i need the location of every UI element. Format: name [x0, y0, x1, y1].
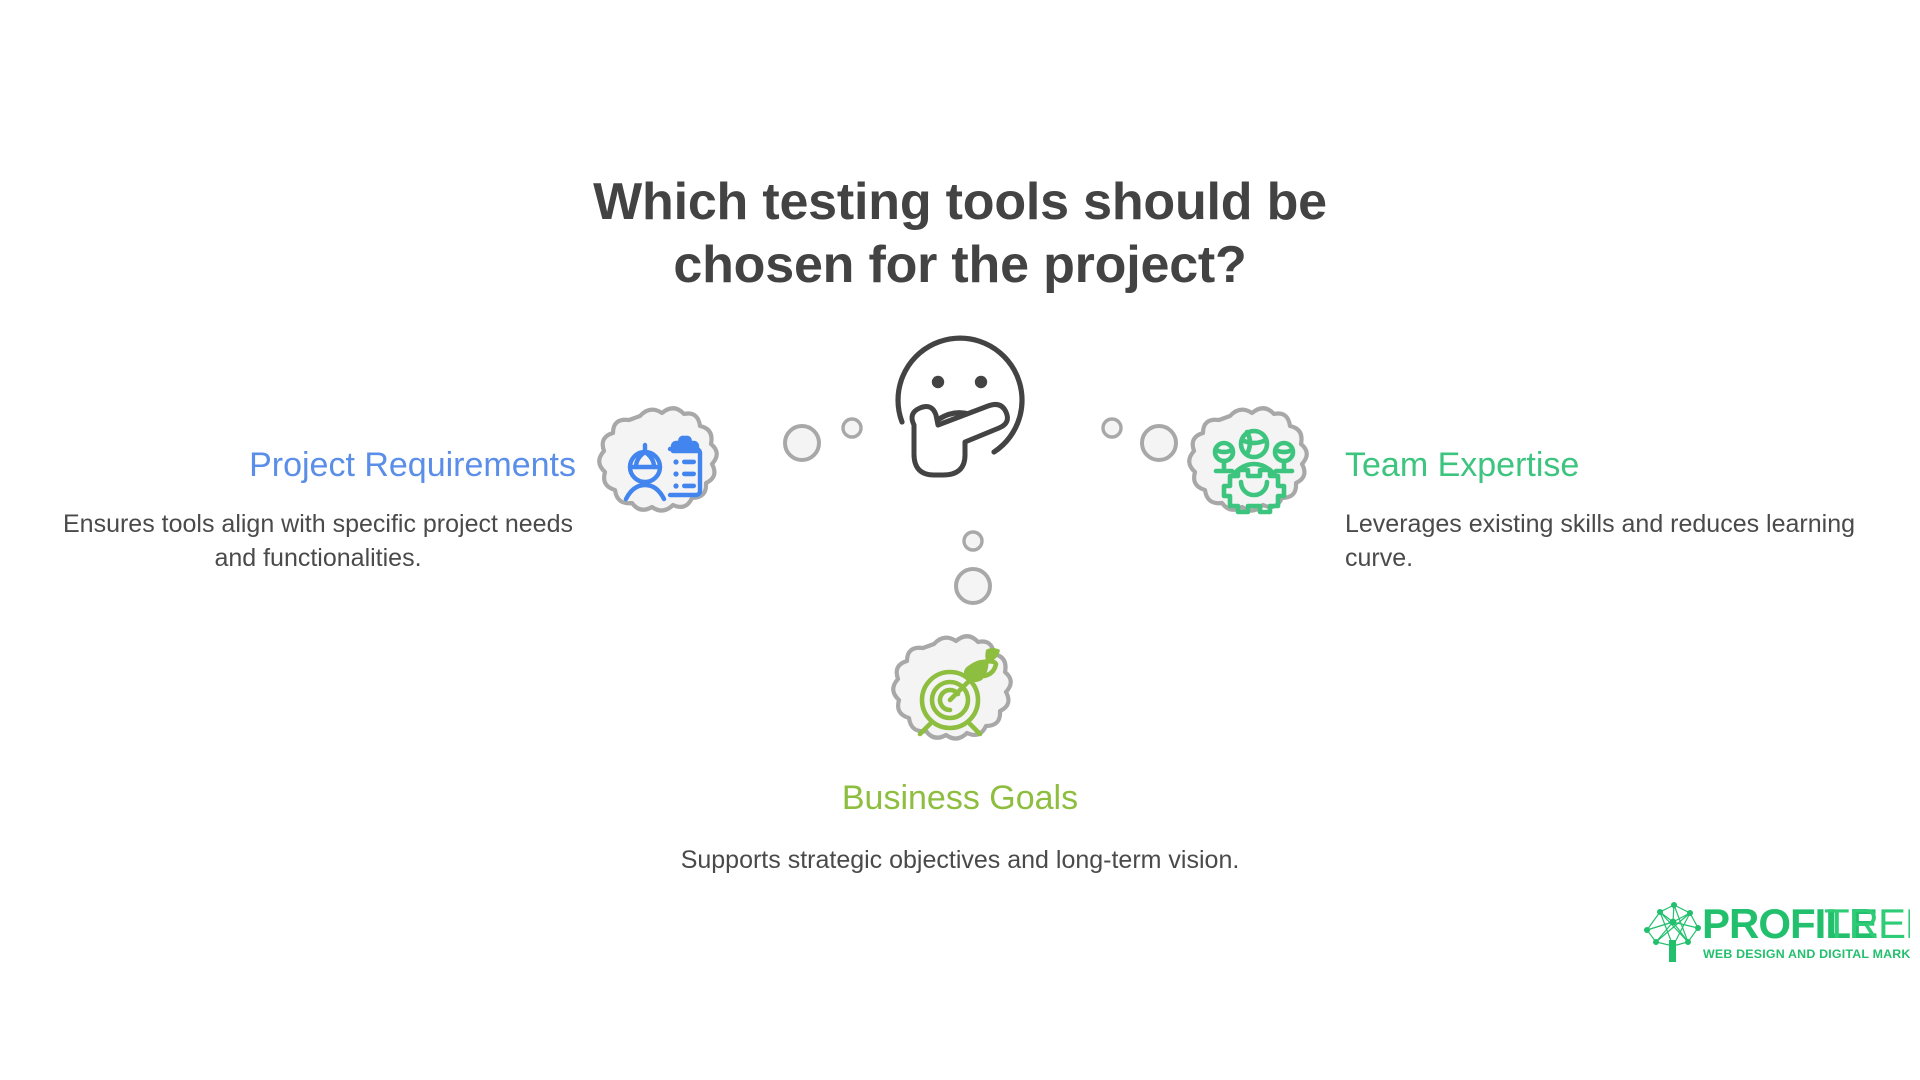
page-title: Which testing tools should be chosen for…	[0, 171, 1920, 298]
thought-bubbles-bottom	[938, 524, 1008, 636]
node-project-requirements[interactable]	[596, 404, 732, 532]
thought-bubbles-left	[744, 408, 884, 478]
branch-description-team-expertise: Leverages existing skills and reduces le…	[1345, 507, 1890, 575]
logo-tagline: WEB DESIGN AND DIGITAL MARKETING	[1703, 947, 1910, 961]
branch-description-project-requirements: Ensures tools align with specific projec…	[60, 507, 576, 575]
page-title-line-2: chosen for the project?	[0, 234, 1920, 297]
page-title-line-1: Which testing tools should be	[0, 171, 1920, 234]
profiletree-logo[interactable]: PROFILE TREE WEB DESIGN AND DIGITAL MARK…	[1640, 898, 1908, 968]
infographic-canvas: Which testing tools should be chosen for…	[0, 0, 1920, 1080]
profiletree-wordmark: PROFILE TREE WEB DESIGN AND DIGITAL MARK…	[1702, 898, 1910, 964]
branch-description-business-goals: Supports strategic objectives and long-t…	[660, 843, 1260, 877]
logo-name-light: TREE	[1824, 900, 1910, 947]
branch-text-team-expertise: Team Expertise Leverages existing skills…	[1345, 445, 1890, 575]
branch-text-business-goals: Business Goals Supports strategic object…	[660, 778, 1260, 877]
node-team-expertise[interactable]	[1186, 404, 1322, 532]
node-business-goals[interactable]	[890, 632, 1026, 760]
branch-heading-team-expertise: Team Expertise	[1345, 445, 1890, 486]
network-tree-icon	[1640, 900, 1706, 962]
thinking-face-icon	[876, 312, 1044, 480]
branch-heading-business-goals: Business Goals	[660, 778, 1260, 819]
branch-text-project-requirements: Project Requirements Ensures tools align…	[60, 445, 576, 575]
branch-heading-project-requirements: Project Requirements	[60, 445, 576, 486]
